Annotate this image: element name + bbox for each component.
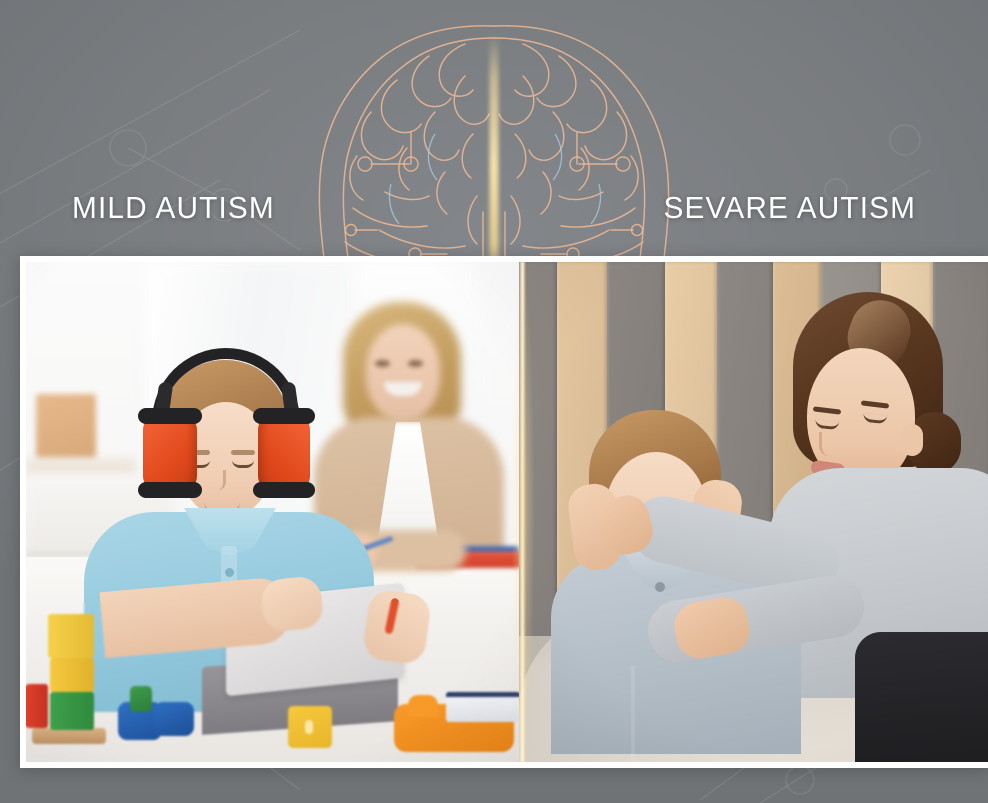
heading-severe-autism: SEVARE AUTISM bbox=[663, 190, 916, 226]
wooden-toy-red bbox=[26, 684, 48, 728]
therapist-face bbox=[366, 324, 440, 422]
boy-polo-button bbox=[225, 568, 234, 577]
heading-mild-autism: MILD AUTISM bbox=[72, 190, 275, 226]
picture-card-prop bbox=[446, 692, 519, 722]
distressed-boy-jeans bbox=[547, 652, 767, 762]
green-block-toy bbox=[130, 686, 152, 712]
mother-ear bbox=[901, 424, 923, 456]
brain-line-art bbox=[259, 16, 729, 266]
boy-brow-right bbox=[231, 450, 255, 455]
wooden-stacking-toy-green bbox=[50, 692, 94, 730]
wooden-stacking-toy-base bbox=[32, 728, 106, 744]
wooden-stacking-toy-yellow bbox=[50, 658, 94, 692]
mother-trousers bbox=[855, 632, 988, 762]
boy-nose bbox=[212, 470, 226, 490]
headings-row: MILD AUTISM SEVARE AUTISM bbox=[0, 190, 988, 226]
ear-defender-cup-right bbox=[258, 414, 310, 492]
therapist-eye-left bbox=[375, 360, 390, 367]
comparison-photo-panel bbox=[20, 256, 988, 768]
poster-root: MILD AUTISM SEVARE AUTISM bbox=[0, 0, 988, 803]
ear-defender-cup-left bbox=[143, 414, 197, 492]
mild-autism-photo bbox=[26, 262, 519, 762]
distressed-boy-button-1 bbox=[655, 582, 665, 592]
jeans-seam bbox=[631, 666, 635, 762]
yellow-cube-toy bbox=[288, 706, 332, 748]
severe-autism-photo bbox=[519, 262, 988, 762]
wooden-box-prop bbox=[36, 394, 96, 460]
therapist-eye-right bbox=[408, 360, 423, 367]
wooden-stacking-toy-top bbox=[48, 614, 94, 658]
photo-pair bbox=[26, 262, 988, 762]
mother-nose bbox=[819, 432, 837, 456]
blue-block-toy-2 bbox=[154, 702, 194, 736]
brain-center-glow bbox=[490, 34, 499, 274]
shelf-prop bbox=[26, 458, 136, 476]
